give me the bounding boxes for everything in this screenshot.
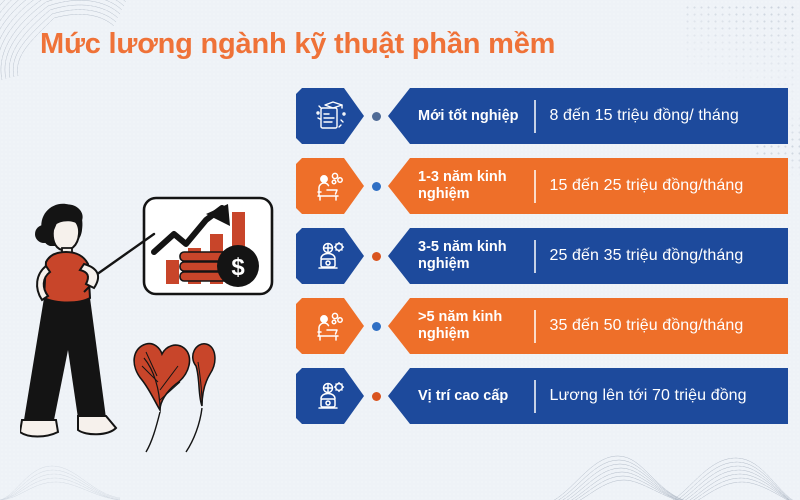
salary-value: Lương lên tới 70 triệu đồng [536, 387, 747, 405]
experience-label: 1-3 năm kinh nghiệm [388, 169, 534, 203]
salary-row[interactable]: Vị trí cao cấp Lương lên tới 70 triệu đồ… [296, 368, 788, 424]
salary-bar[interactable]: >5 năm kinh nghiệm 35 đến 50 triệu đồng/… [388, 298, 788, 354]
experience-label: Mới tốt nghiệp [388, 108, 534, 125]
salary-row[interactable]: Mới tốt nghiệp 8 đến 15 triệu đồng/ thán… [296, 88, 788, 144]
salary-value: 35 đến 50 triệu đồng/tháng [536, 317, 744, 335]
connector-dot [372, 112, 381, 121]
salary-bar[interactable]: 1-3 năm kinh nghiệm 15 đến 25 triệu đồng… [388, 158, 788, 214]
salary-row[interactable]: >5 năm kinh nghiệm 35 đến 50 triệu đồng/… [296, 298, 788, 354]
salary-value: 8 đến 15 triệu đồng/ tháng [536, 107, 739, 125]
chart-board: $ [144, 198, 272, 294]
salary-bar[interactable]: Vị trí cao cấp Lương lên tới 70 triệu đồ… [388, 368, 788, 424]
connector-dot [372, 182, 381, 191]
page-title: Mức lương ngành kỹ thuật phần mềm [40, 28, 555, 61]
experience-label: >5 năm kinh nghiệm [388, 309, 534, 343]
salary-row[interactable]: 3-5 năm kinh nghiệm 25 đến 35 triệu đồng… [296, 228, 788, 284]
salary-value: 15 đến 25 triệu đồng/tháng [536, 177, 744, 195]
graduation-document-icon [296, 88, 364, 144]
experience-label: 3-5 năm kinh nghiệm [388, 239, 534, 273]
person-desk-gears-icon [296, 158, 364, 214]
salary-value: 25 đến 35 triệu đồng/tháng [536, 247, 744, 265]
connector-dot [372, 392, 381, 401]
salary-rows-list: Mới tốt nghiệp 8 đến 15 triệu đồng/ thán… [296, 88, 788, 438]
infographic-canvas: Mức lương ngành kỹ thuật phần mềm [0, 0, 800, 500]
connector-dot [372, 252, 381, 261]
connector-dot [372, 322, 381, 331]
woman-figure [20, 204, 116, 437]
salary-bar[interactable]: Mới tốt nghiệp 8 đến 15 triệu đồng/ thán… [388, 88, 788, 144]
illustration-woman-presenting-chart: $ [20, 190, 280, 460]
person-desk-gears-icon [296, 298, 364, 354]
experience-label: Vị trí cao cấp [388, 388, 534, 405]
plant-decoration [134, 344, 215, 452]
person-laptop-gear-icon [296, 228, 364, 284]
salary-row[interactable]: 1-3 năm kinh nghiệm 15 đến 25 triệu đồng… [296, 158, 788, 214]
person-laptop-gear-icon [296, 368, 364, 424]
svg-text:$: $ [231, 254, 245, 281]
salary-bar[interactable]: 3-5 năm kinh nghiệm 25 đến 35 triệu đồng… [388, 228, 788, 284]
